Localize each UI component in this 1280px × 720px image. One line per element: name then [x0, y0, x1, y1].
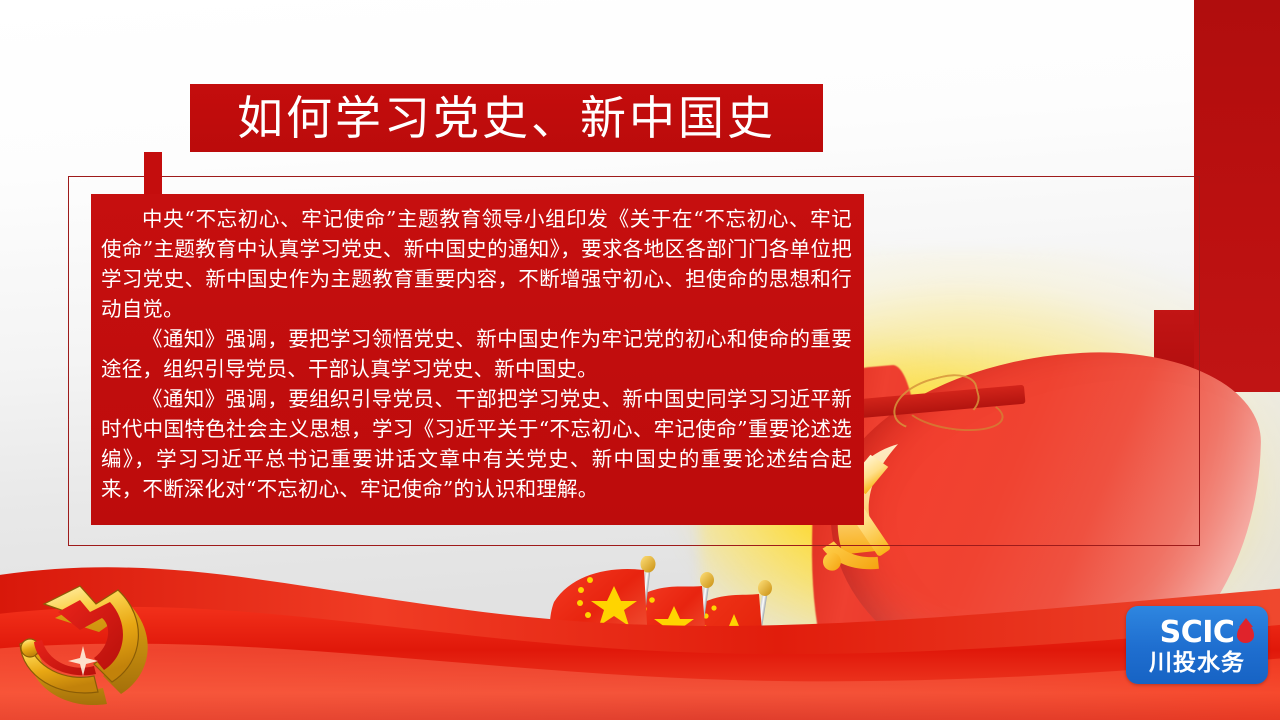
title-banner: 如何学习党史、新中国史	[190, 84, 823, 152]
logo-brand-text: SCIC	[1160, 618, 1235, 648]
page-title: 如何学习党史、新中国史	[237, 95, 776, 141]
slide-canvas: 如何学习党史、新中国史 中央“不忘初心、牢记使命”主题教育领导小组印发《关于在“…	[0, 0, 1280, 720]
party-emblem-hammer-and-sickle-icon	[18, 578, 188, 708]
national-flags-decoration	[528, 556, 828, 686]
company-logo: SCIC 川投水务	[1126, 606, 1268, 684]
content-text-block: 中央“不忘初心、牢记使命”主题教育领导小组印发《关于在“不忘初心、牢记使命”主题…	[91, 194, 864, 525]
red-ribbon-decoration	[0, 530, 1280, 720]
title-connector-tab	[144, 152, 162, 194]
logo-chinese-name: 川投水务	[1149, 652, 1245, 675]
paragraph-3: 《通知》强调，要组织引导党员、干部把学习党史、新中国史同学习习近平新时代中国特色…	[101, 384, 852, 504]
water-drop-icon	[1237, 624, 1254, 643]
logo-top-row: SCIC	[1126, 615, 1268, 651]
paragraph-1: 中央“不忘初心、牢记使命”主题教育领导小组印发《关于在“不忘初心、牢记使命”主题…	[101, 204, 852, 324]
paragraph-2: 《通知》强调，要把学习领悟党史、新中国史作为牢记党的初心和使命的重要途径，组织引…	[101, 324, 852, 384]
right-red-band-decoration	[1194, 0, 1280, 392]
